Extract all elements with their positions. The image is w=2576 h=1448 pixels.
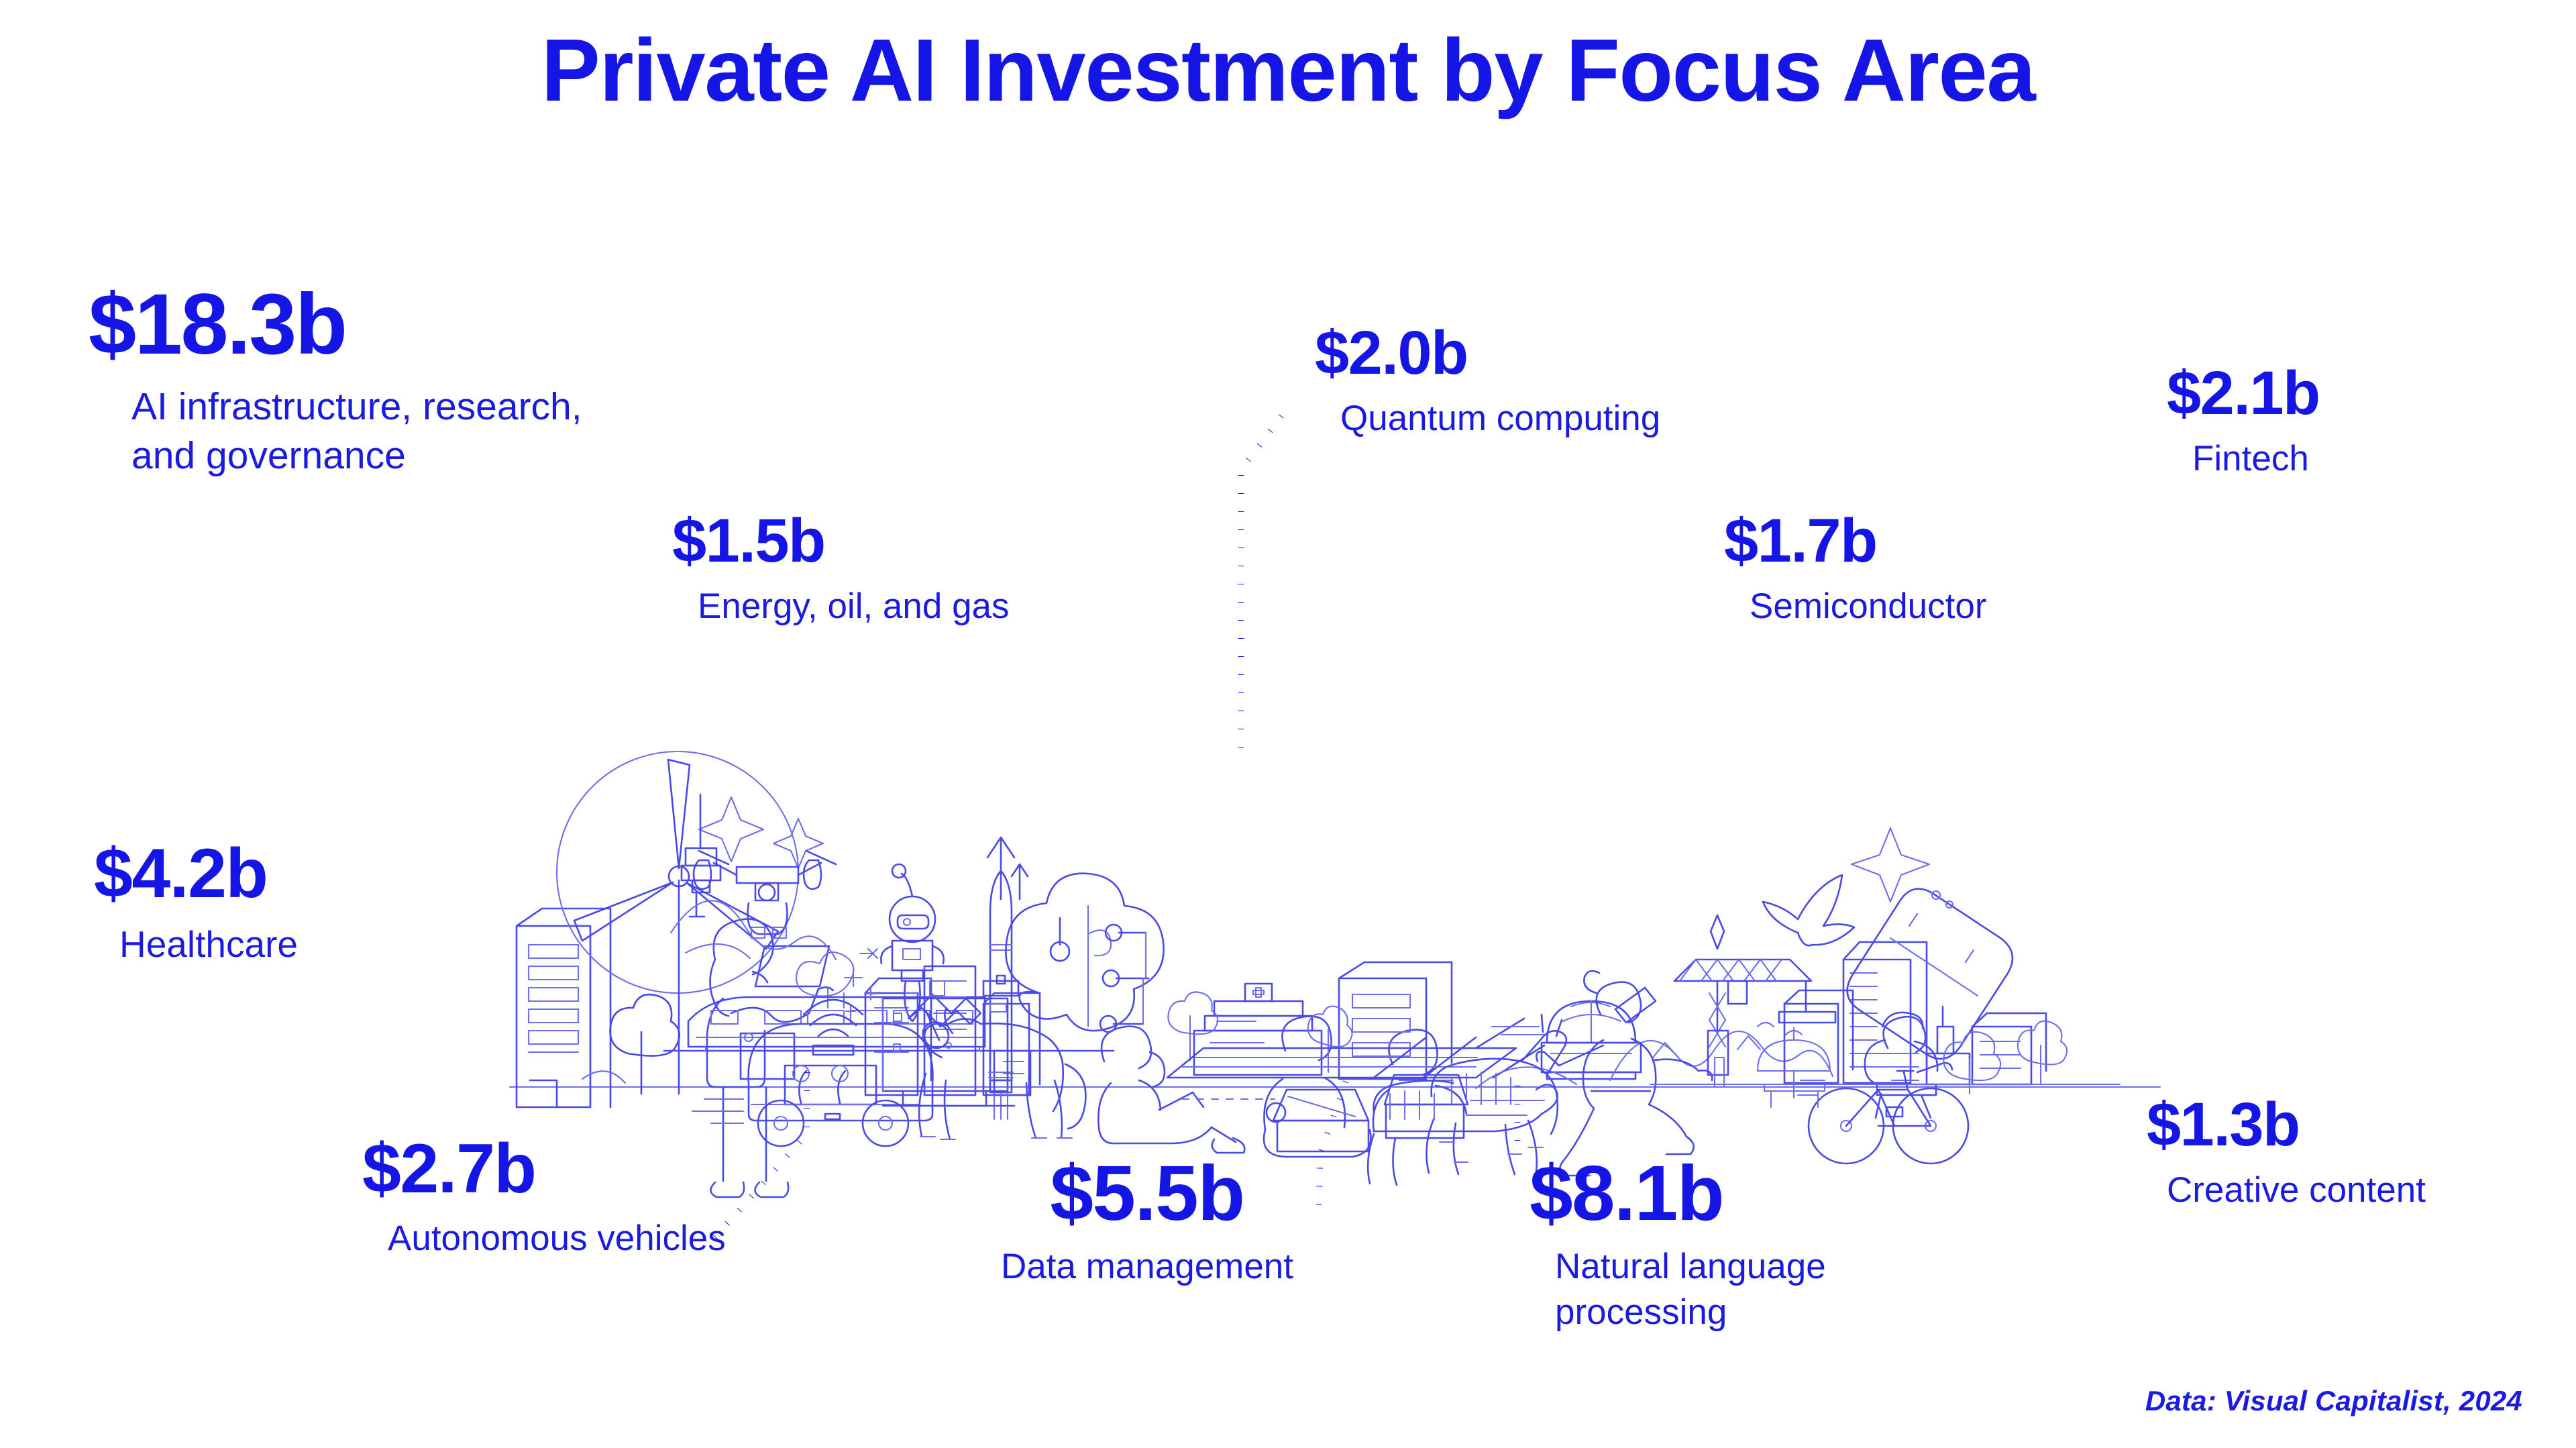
- data-source-attribution: Data: Visual Capitalist, 2024: [2145, 1385, 2522, 1417]
- callout-amount: $4.2b: [94, 839, 510, 909]
- hill-right: [1476, 1067, 1576, 1088]
- rocket: [983, 837, 1028, 1119]
- callout-label: Creative content: [2147, 1168, 2495, 1213]
- callout-label: Energy, oil, and gas: [672, 584, 1021, 629]
- callout-amount: $2.7b: [362, 1134, 778, 1204]
- callout-infrastructure: $18.3b AI infrastructure, research, and …: [89, 282, 598, 480]
- callout-fintech: $2.1b Fintech: [2167, 362, 2502, 482]
- callout-amount: $1.3b: [2147, 1094, 2495, 1155]
- callout-data-management: $5.5b Data management: [959, 1154, 1335, 1290]
- infographic-canvas: Private AI Investment by Focus Area: [0, 0, 2576, 1448]
- bird: [1763, 875, 1854, 945]
- cafe-umbrella: [1758, 1028, 1830, 1107]
- smartphone: [1847, 828, 2012, 1059]
- callout-label: Quantum computing: [1315, 396, 1690, 442]
- callout-label: Healthcare: [94, 921, 510, 968]
- cloud-s: [582, 1071, 625, 1083]
- illustration-cityscape: [510, 678, 2160, 1134]
- left-buildings: [517, 909, 610, 1107]
- callout-amount: $2.0b: [1315, 322, 1690, 384]
- callout-amount: $5.5b: [959, 1154, 1335, 1232]
- callout-label: Autonomous vehicles: [362, 1216, 778, 1261]
- trees-right: [1943, 1021, 2067, 1094]
- cloud-center: [796, 952, 853, 996]
- cyclist: [1798, 1013, 1968, 1163]
- skyscrapers-right: [1784, 942, 2046, 1084]
- callout-amount: $8.1b: [1529, 1154, 1986, 1232]
- callout-semiconductor: $1.7b Semiconductor: [1724, 510, 2194, 629]
- post: [1715, 1057, 1724, 1087]
- stadium: [1167, 1019, 1546, 1078]
- callout-amount: $18.3b: [89, 282, 598, 368]
- callout-label: Natural language processing: [1529, 1244, 1986, 1335]
- callout-natural-language-processing: $8.1b Natural language processing: [1529, 1154, 1986, 1335]
- hospital: [1168, 962, 1452, 1079]
- mountains-right: [1610, 1031, 1833, 1080]
- callout-amount: $1.7b: [1724, 510, 2194, 572]
- city-blocks-left: [865, 966, 1040, 1095]
- page-title: Private AI Investment by Focus Area: [0, 23, 2576, 119]
- callout-label: Semiconductor: [1724, 584, 2194, 629]
- birds-small: [1758, 1023, 1802, 1035]
- callout-quantum-computing: $2.0b Quantum computing: [1315, 322, 1690, 442]
- callout-label: Fintech: [2167, 436, 2502, 482]
- callout-label: AI infrastructure, research, and governa…: [89, 382, 598, 480]
- tree-hospital: [1168, 992, 1218, 1061]
- callout-amount: $1.5b: [672, 510, 1021, 572]
- callout-autonomous-vehicles: $2.7b Autonomous vehicles: [362, 1134, 778, 1261]
- wind-turbine: [557, 752, 823, 1094]
- callout-amount: $2.1b: [2167, 362, 2502, 424]
- callout-healthcare: $4.2b Healthcare: [94, 839, 510, 968]
- callout-creative-content: $1.3b Creative content: [2147, 1094, 2495, 1213]
- callout-label: Data management: [959, 1244, 1335, 1290]
- person-sitting-tablet: [1098, 1027, 1244, 1153]
- callout-energy-oil-gas: $1.5b Energy, oil, and gas: [672, 510, 1021, 629]
